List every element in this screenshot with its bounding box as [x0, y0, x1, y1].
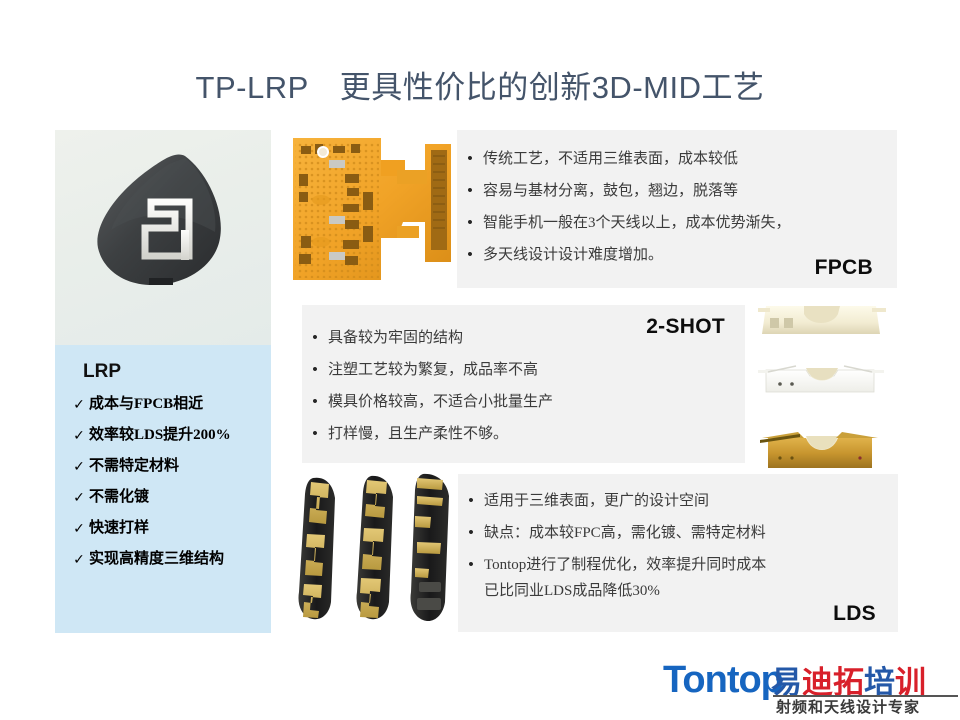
bullet-icon: •: [302, 357, 328, 383]
lds-text-panel: • 适用于三维表面，更广的设计空间 • 缺点：成本较FPC高，需化镀、需特定材料…: [458, 474, 898, 632]
two-shot-bullet-list: • 具备较为牢固的结构 • 注塑工艺较为繁复，成品率不高 • 模具价格较高，不适…: [302, 325, 745, 447]
bullet-continuation-label: 已比同业LDS成品降低30%: [458, 578, 660, 604]
lrp-benefit-label: 快速打样: [89, 519, 149, 538]
fpcb-text-panel: • 传统工艺，不适用三维表面，成本较低 • 容易与基材分离，鼓包，翘边，脱落等 …: [457, 130, 897, 288]
lrp-benefit-list: ✓ 成本与FPCB相近 ✓ 效率较LDS提升200% ✓ 不需特定材料 ✓ 不需…: [65, 395, 261, 569]
two-shot-tag: 2-SHOT: [646, 315, 725, 339]
lds-part-3: [411, 474, 450, 621]
list-item: • Tontop进行了制程优化，效率提升同时成本 已比同业LDS成品降低30%: [458, 552, 898, 604]
bullet-label: 具备较为牢固的结构: [328, 325, 463, 351]
lrp-product-photo: [55, 130, 271, 345]
lds-illustration: [285, 472, 463, 632]
bullet-icon: •: [457, 210, 483, 236]
bullet-icon: •: [302, 389, 328, 415]
two-shot-part-3: [760, 432, 878, 468]
two-shot-part-2: [758, 366, 884, 392]
bullet-label: 模具价格较高，不适合小批量生产: [328, 389, 553, 415]
bullet-icon: •: [458, 520, 484, 546]
lrp-benefit-label: 不需化镀: [89, 488, 149, 507]
bullet-icon: •: [302, 325, 328, 351]
bullet-icon: •: [458, 488, 484, 514]
two-shot-illustration: [748, 300, 938, 478]
watermark-subtitle: 射频和天线设计专家: [776, 696, 920, 717]
list-item: • 容易与基材分离，鼓包，翘边，脱落等: [457, 178, 897, 204]
bullet-label: 传统工艺，不适用三维表面，成本较低: [483, 146, 738, 172]
list-item: ✓ 成本与FPCB相近: [69, 395, 261, 414]
lrp-benefit-label: 不需特定材料: [89, 457, 179, 476]
footer-logo: Tontop 易迪拓培训 射频和天线设计专家: [663, 655, 960, 717]
fpcb-photo: [285, 130, 457, 288]
check-icon: ✓: [69, 457, 89, 476]
list-item: • 适用于三维表面，更广的设计空间: [458, 488, 898, 514]
bullet-icon: •: [457, 242, 483, 268]
list-item: ✓ 效率较LDS提升200%: [69, 426, 261, 445]
lrp-benefit-label: 效率较LDS提升200%: [89, 426, 231, 445]
check-icon: ✓: [69, 488, 89, 507]
list-item: • 打样慢，且生产柔性不够。: [302, 421, 745, 447]
bullet-label: 智能手机一般在3个天线以上，成本优势渐失，: [483, 210, 791, 236]
fpcb-illustration: [285, 130, 457, 288]
fpcb-bullet-list: • 传统工艺，不适用三维表面，成本较低 • 容易与基材分离，鼓包，翘边，脱落等 …: [457, 146, 897, 268]
two-shot-photos: [748, 300, 938, 478]
bullet-label: 注塑工艺较为繁复，成品率不高: [328, 357, 538, 383]
lrp-antenna-part-illustration: [89, 152, 239, 312]
slide-root: TP-LRP 更具性价比的创新3D-MID工艺: [0, 0, 960, 720]
lrp-benefit-label: 成本与FPCB相近: [89, 395, 203, 414]
check-icon: ✓: [69, 426, 89, 445]
bullet-label: 适用于三维表面，更广的设计空间: [484, 488, 709, 514]
lrp-benefits-panel: LRP ✓ 成本与FPCB相近 ✓ 效率较LDS提升200% ✓ 不需特定材料 …: [55, 345, 271, 633]
bullet-label: 多天线设计设计难度增加。: [483, 242, 663, 268]
bullet-label: 容易与基材分离，鼓包，翘边，脱落等: [483, 178, 738, 204]
check-icon: ✓: [69, 550, 89, 569]
lds-photos: [285, 472, 463, 632]
brand-wordmark: Tontop: [663, 659, 783, 702]
list-item: • 传统工艺，不适用三维表面，成本较低: [457, 146, 897, 172]
bullet-icon: •: [458, 552, 484, 578]
bullet-label: Tontop进行了制程优化，效率提升同时成本: [484, 552, 766, 578]
list-item: ✓ 不需特定材料: [69, 457, 261, 476]
lrp-panel-title: LRP: [83, 361, 261, 383]
lrp-benefit-label: 实现高精度三维结构: [89, 550, 224, 569]
lrp-photo-canvas: [55, 130, 271, 345]
list-item: ✓ 不需化镀: [69, 488, 261, 507]
page-title: TP-LRP 更具性价比的创新3D-MID工艺: [0, 62, 960, 107]
fpcb-tag: FPCB: [815, 256, 873, 280]
lds-bullet-list: • 适用于三维表面，更广的设计空间 • 缺点：成本较FPC高，需化镀、需特定材料…: [458, 488, 898, 604]
list-item: • 缺点：成本较FPC高，需化镀、需特定材料: [458, 520, 898, 546]
list-item: • 模具价格较高，不适合小批量生产: [302, 389, 745, 415]
list-item: • 注塑工艺较为繁复，成品率不高: [302, 357, 745, 383]
two-shot-text-panel: 2-SHOT • 具备较为牢固的结构 • 注塑工艺较为繁复，成品率不高 • 模具…: [302, 305, 745, 463]
check-icon: ✓: [69, 519, 89, 538]
bullet-icon: •: [457, 178, 483, 204]
check-icon: ✓: [69, 395, 89, 414]
bullet-label: 缺点：成本较FPC高，需化镀、需特定材料: [484, 520, 766, 546]
list-item: ✓ 实现高精度三维结构: [69, 550, 261, 569]
list-item: ✓ 快速打样: [69, 519, 261, 538]
two-shot-part-1: [758, 306, 886, 334]
lds-tag: LDS: [833, 602, 876, 626]
bullet-icon: •: [302, 421, 328, 447]
bullet-icon: •: [457, 146, 483, 172]
list-item: • 智能手机一般在3个天线以上，成本优势渐失，: [457, 210, 897, 236]
bullet-label: 打样慢，且生产柔性不够。: [328, 421, 508, 447]
